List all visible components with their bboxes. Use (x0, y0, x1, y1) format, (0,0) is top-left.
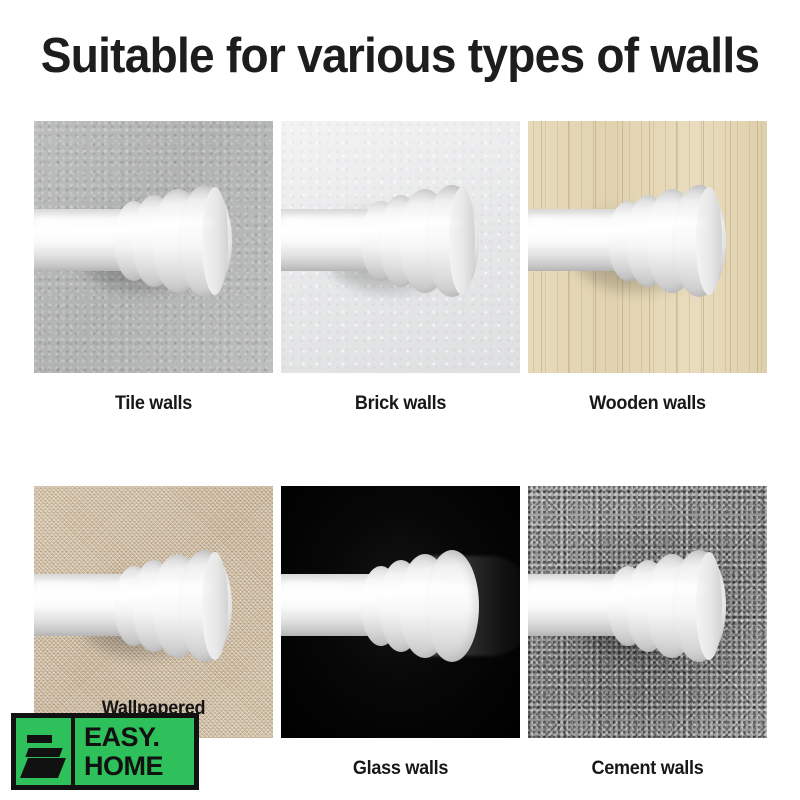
tension-rod-illustration (528, 548, 737, 666)
photo-cement-walls (528, 486, 767, 738)
tension-rod-illustration (34, 183, 243, 301)
tension-rod-illustration (281, 183, 490, 301)
gallery-caption: Brick walls (287, 393, 514, 415)
photo-wallpapered: Wallpapered (34, 486, 273, 738)
gallery-caption: Wallpapered (40, 698, 267, 720)
tension-rod-illustration (281, 548, 490, 666)
brand-mark-icon (16, 718, 75, 785)
rod-highlight (281, 582, 461, 594)
gallery-cell-glass-walls: Glass walls (281, 486, 520, 780)
gallery-caption: Wooden walls (534, 393, 761, 415)
brand-line-2: HOME (84, 752, 194, 781)
rod-cap-face (202, 187, 228, 295)
gallery-caption: Cement walls (534, 758, 761, 780)
brand-logo: EASY. HOME (11, 713, 199, 790)
photo-brick-walls (281, 121, 520, 373)
photo-wooden-walls (528, 121, 767, 373)
gallery-row: Tile walls Brick walls (34, 121, 766, 415)
product-feature-graphic: Suitable for various types of walls (0, 0, 800, 800)
rod-cap-ring-4 (425, 550, 479, 662)
photo-tile-walls (34, 121, 273, 373)
brand-wordmark: EASY. HOME (75, 718, 194, 785)
gallery-cell-tile-walls: Tile walls (34, 121, 273, 415)
rod-cap-face (202, 552, 228, 660)
tension-rod-illustration (34, 548, 243, 666)
tension-rod-illustration (528, 183, 737, 301)
brand-line-1: EASY. (84, 723, 194, 752)
wall-type-gallery: Tile walls Brick walls (34, 121, 766, 780)
gallery-caption: Glass walls (287, 758, 514, 780)
rod-cap-face (696, 552, 722, 660)
gallery-cell-brick-walls: Brick walls (281, 121, 520, 415)
brand-mark-bar-bottom (20, 758, 66, 778)
rod-highlight (34, 217, 214, 229)
page-title: Suitable for various types of walls (24, 28, 776, 84)
rod-cap-face (449, 187, 475, 295)
brand-mark-bar-middle (25, 748, 62, 757)
rod-highlight (281, 217, 461, 229)
brand-mark-bar-top (27, 735, 52, 743)
photo-glass-walls (281, 486, 520, 738)
rod-cap-face (696, 187, 722, 295)
rod-highlight (528, 217, 708, 229)
gallery-cell-wooden-walls: Wooden walls (528, 121, 767, 415)
rod-highlight (34, 582, 214, 594)
gallery-caption: Tile walls (40, 393, 267, 415)
gallery-cell-cement-walls: Cement walls (528, 486, 767, 780)
rod-highlight (528, 582, 708, 594)
